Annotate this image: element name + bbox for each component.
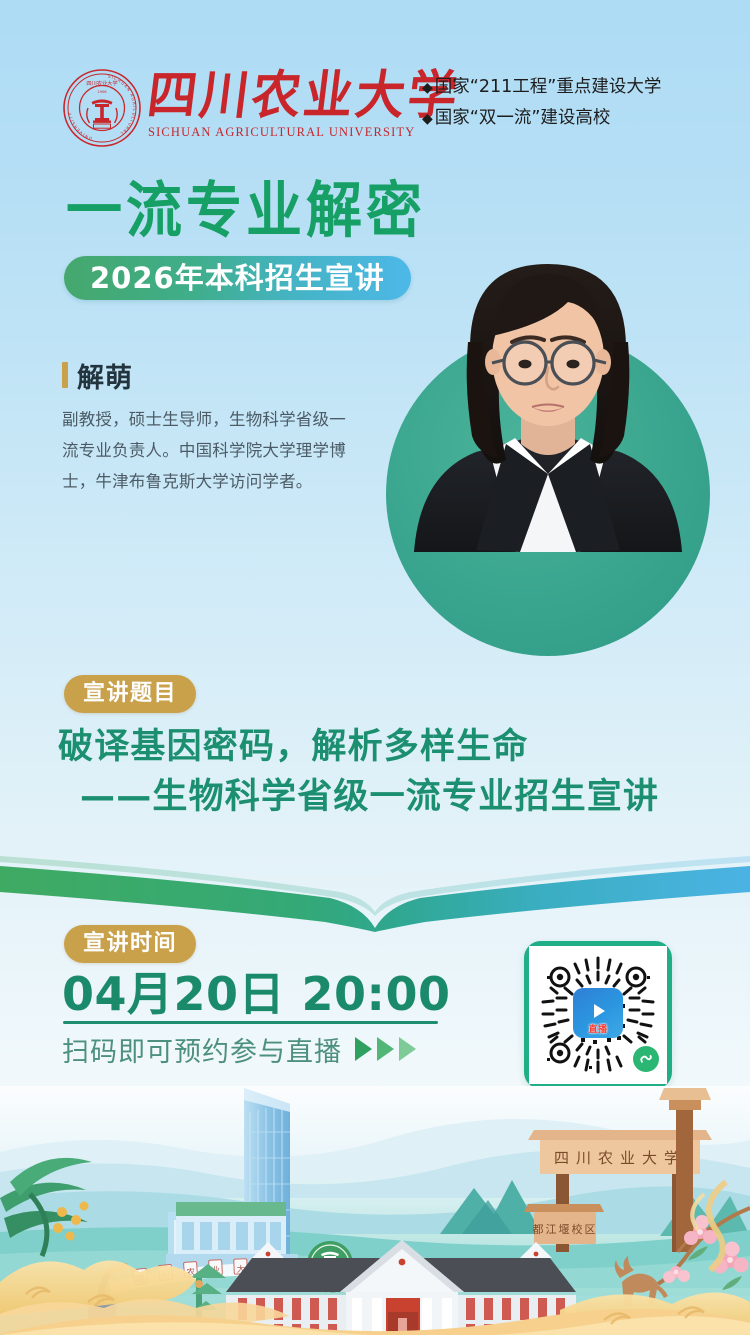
svg-text:四川农业大学: 四川农业大学 [86,79,117,87]
campus-skyline-illustration: 四 川 农 业 大 学 四川农业大学 四川农业大学 [0,1086,750,1335]
schedule-badge: 宣讲时间 [64,925,196,963]
topic-text: 破译基因密码，解析多样生命 ——生物科学省级一流专业招生宣讲 [58,722,718,822]
speaker-portrait [378,232,718,552]
schedule-badge-label: 宣讲时间 [83,925,177,963]
live-play-icon: 直播 [573,988,623,1038]
portrait-image [378,232,718,552]
university-name-en: SICHUAN AGRICULTURAL UNIVERSITY [148,125,416,140]
accent-bar-icon [62,362,68,388]
page-title: 一流专业解密 [66,176,426,245]
topic-line-2: ——生物科学省级一流专业招生宣讲 [58,772,718,822]
speaker-block: 解萌 副教授，硕士生导师，生物科学省级一流专业负责人。中国科学院大学理学博士，牛… [62,358,352,497]
accreditation-label: 国家“双一流”建设高校 [435,108,611,128]
poster-root: 四川农业大学 1906 SICHUAN AGRICULTURAL UNIVERS… [0,0,750,1335]
wechat-miniprogram-badge-icon [633,1046,659,1072]
diamond-icon: ◆ [422,111,433,127]
topic-badge: 宣讲题目 [64,675,196,713]
university-wordmark: 四川农业大学 SICHUAN AGRICULTURAL UNIVERSITY [148,66,416,150]
subtitle-pill-label: 2026年本科招生宣讲 [90,256,385,300]
topic-line-1: 破译基因密码，解析多样生命 [58,722,718,772]
accreditation-item: ◆国家“双一流”建设高校 [422,103,661,134]
schedule-cta-row: 扫码即可预约参与直播 [62,1029,416,1069]
play-triangle-icon [399,1037,416,1061]
university-seal-icon: 四川农业大学 1906 SICHUAN AGRICULTURAL UNIVERS… [62,68,142,148]
diamond-icon: ◆ [422,80,433,96]
university-name-cn: 四川农业大学 [144,64,420,125]
poster-header: 四川农业大学 1906 SICHUAN AGRICULTURAL UNIVERS… [0,58,750,150]
topic-badge-label: 宣讲题目 [83,675,177,713]
accreditation-list: ◆国家“211工程”重点建设大学 ◆国家“双一流”建设高校 [422,72,661,134]
play-triangle-icon [355,1037,372,1061]
speaker-bio: 副教授，硕士生导师，生物科学省级一流专业负责人。中国科学院大学理学博士，牛津布鲁… [62,404,354,497]
accreditation-item: ◆国家“211工程”重点建设大学 [422,72,661,103]
play-triangle-icon [377,1037,394,1061]
schedule-underline [63,1021,438,1024]
speaker-name: 解萌 [77,356,133,395]
accreditation-label: 国家“211工程”重点建设大学 [435,77,662,97]
schedule-cta-label: 扫码即可预约参与直播 [62,1030,342,1069]
subtitle-pill: 2026年本科招生宣讲 [64,256,411,300]
play-arrow-icon [594,1004,605,1018]
svg-text:四川农业大学: 四川农业大学 [554,1149,686,1167]
svg-text:都江堰校区: 都江堰校区 [533,1222,598,1236]
qr-center-label: 直播 [573,1022,623,1035]
speaker-name-row: 解萌 [62,358,352,392]
wechat-miniprogram-qr-icon[interactable]: 直播 [524,941,672,1089]
svg-text:1906: 1906 [97,90,107,94]
arrow-group [355,1037,416,1061]
schedule-datetime: 04月20日 20:00 [62,966,450,1022]
